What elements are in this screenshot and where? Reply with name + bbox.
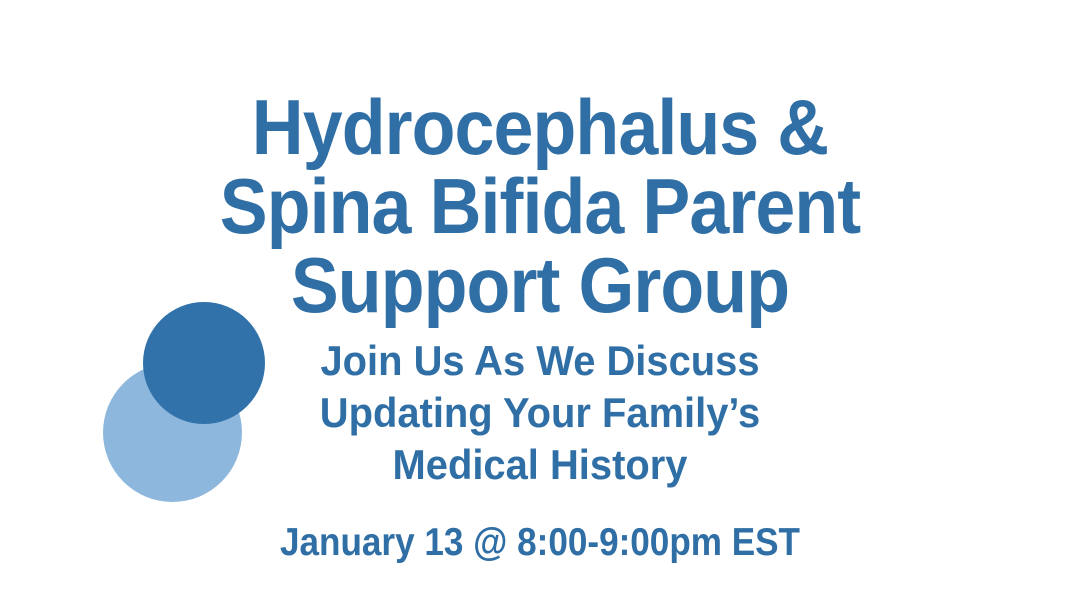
subtitle-line-3: Medical History: [27, 439, 1053, 491]
page-title: Hydrocephalus & Spina Bifida Parent Supp…: [43, 88, 1037, 325]
flyer-content: Hydrocephalus & Spina Bifida Parent Supp…: [0, 0, 1080, 600]
title-line-2: Spina Bifida Parent: [43, 167, 1037, 246]
flyer-canvas: Hydrocephalus & Spina Bifida Parent Supp…: [0, 0, 1080, 600]
subtitle-line-2: Updating Your Family’s: [27, 387, 1053, 439]
title-line-1: Hydrocephalus &: [43, 88, 1037, 167]
subtitle-line-1: Join Us As We Discuss: [27, 335, 1053, 387]
page-subtitle: Join Us As We Discuss Updating Your Fami…: [27, 335, 1053, 491]
title-line-3: Support Group: [43, 246, 1037, 325]
event-datetime: January 13 @ 8:00-9:00pm EST: [54, 520, 1026, 566]
